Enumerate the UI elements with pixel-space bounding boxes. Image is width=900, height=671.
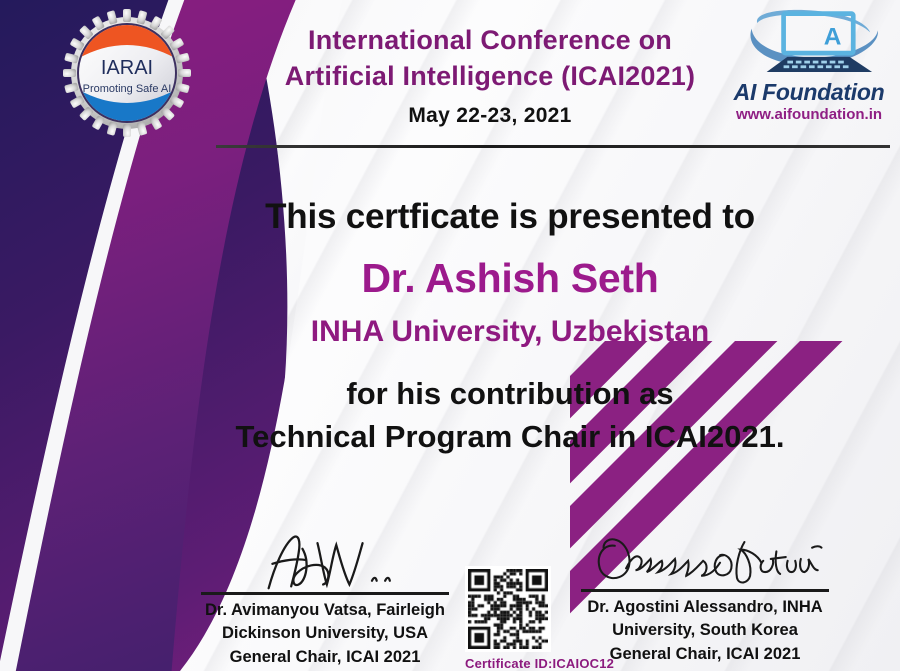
recipient-affiliation: INHA University, Uzbekistan <box>150 315 870 349</box>
signatory-left-line3: General Chair, ICAI 2021 <box>180 646 470 669</box>
conference-title: International Conference on Artificial I… <box>230 22 750 94</box>
conference-title-line2: Artificial Intelligence (ICAI2021) <box>230 58 750 94</box>
iarai-logo: IARAI Promoting Safe AI <box>62 8 192 138</box>
contribution-statement: for his contribution as Technical Progra… <box>140 373 880 459</box>
certificate-qr-section: Certificate ID:ICAIOC12 <box>465 566 614 671</box>
signature-avimanyou-vatsa-icon <box>205 530 445 592</box>
signature-rule-left <box>201 592 449 595</box>
recipient-name: Dr. Ashish Seth <box>150 255 870 302</box>
svg-text:A: A <box>824 24 842 51</box>
conference-date: May 22-23, 2021 <box>230 104 750 128</box>
signatory-left-line1: Dr. Avimanyou Vatsa, Fairleigh <box>180 599 470 622</box>
conference-title-line1: International Conference on <box>230 22 750 58</box>
signature-rule-right <box>581 589 829 592</box>
certificate-id-label: Certificate ID:ICAIOC12 <box>465 656 614 671</box>
iarai-logo-name: IARAI <box>101 57 153 79</box>
header-divider <box>216 145 890 148</box>
computer-monitor-icon: A <box>729 2 889 76</box>
iarai-logo-tagline: Promoting Safe AI <box>83 83 172 95</box>
qr-code-icon[interactable] <box>465 566 551 652</box>
signatory-left-name: Dr. Avimanyou Vatsa, Fairleigh Dickinson… <box>180 599 470 669</box>
contribution-line1: for his contribution as <box>140 373 880 416</box>
contribution-line2: Technical Program Chair in ICAI2021. <box>140 416 880 459</box>
certificate-canvas: IARAI Promoting Safe AI A AI Foundation … <box>0 0 900 671</box>
presented-to-line: This certficate is presented to <box>150 197 870 237</box>
signature-block-left: Dr. Avimanyou Vatsa, Fairleigh Dickinson… <box>180 530 470 669</box>
signatory-left-line2: Dickinson University, USA <box>180 622 470 645</box>
